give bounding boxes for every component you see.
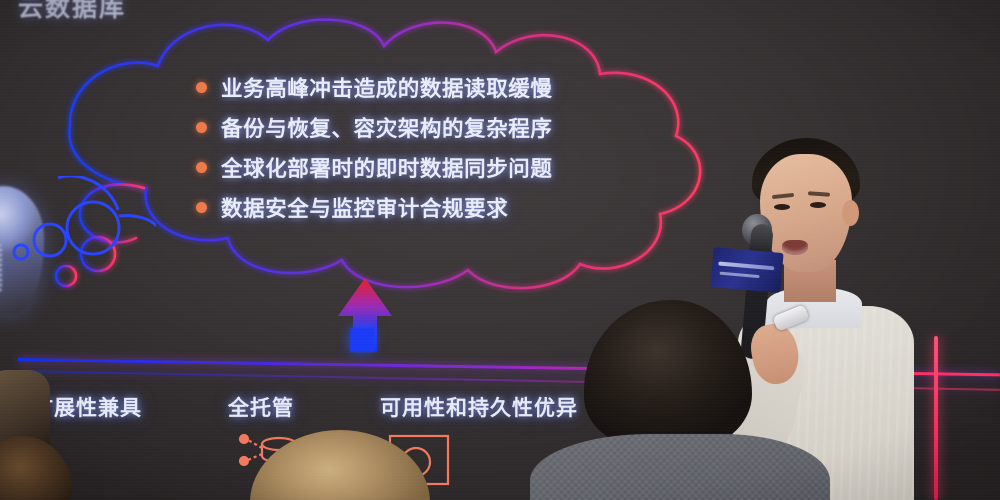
bullet-text: 数据安全与监控审计合规要求 (221, 192, 508, 223)
bullet-item: 数据安全与监控审计合规要求 (196, 192, 596, 222)
speaker-mouth (782, 240, 808, 255)
bullet-dot-icon (196, 202, 207, 213)
presentation-photo: 云数据库 (0, 0, 1000, 500)
bullet-text: 全球化部署时的即时数据同步问题 (221, 152, 553, 183)
bullet-text: 备份与恢复、容灾架构的复杂程序 (221, 112, 553, 143)
arrow-base-glow (350, 328, 374, 352)
thought-bubble-circles-icon (6, 176, 156, 286)
speaker-eye-right (810, 202, 826, 208)
bullet-list: 业务高峰冲击造成的数据读取缓慢 备份与恢复、容灾架构的复杂程序 全球化部署时的即… (196, 72, 596, 232)
audience-member-center (536, 300, 836, 500)
audience-hair (584, 300, 752, 450)
speaker-ear (842, 200, 859, 226)
bullet-dot-icon (196, 162, 207, 173)
accent-vertical-line (934, 336, 938, 500)
audience-hair (250, 430, 430, 500)
audience-member-left (250, 430, 430, 500)
microphone-flag-badge (710, 247, 783, 293)
audience-blazer (530, 434, 830, 500)
audience-hair (0, 436, 72, 500)
bullet-dot-icon (196, 122, 207, 133)
audience-member-far-left (0, 436, 72, 500)
bullet-item: 备份与恢复、容灾架构的复杂程序 (196, 112, 596, 142)
bullet-text: 业务高峰冲击造成的数据读取缓慢 (221, 72, 553, 103)
speaker-eye-left (774, 204, 790, 210)
bullet-dot-icon (196, 82, 207, 93)
feature-item-fully-managed: 全托管 (228, 392, 294, 422)
feature-label: 全托管 (228, 392, 294, 422)
bullet-item: 业务高峰冲击造成的数据读取缓慢 (196, 72, 596, 102)
bullet-item: 全球化部署时的即时数据同步问题 (196, 152, 596, 182)
